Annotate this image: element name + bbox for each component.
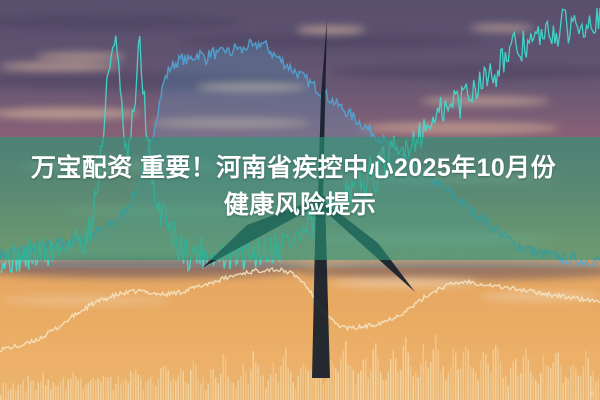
- watermark-label: 6: [590, 391, 594, 398]
- title-line-1: 万宝配资 重要！河南省疾控中心2025年10月份: [31, 150, 556, 187]
- article-banner-image: 万宝配资 重要！河南省疾控中心2025年10月份 健康风险提示 6: [0, 0, 600, 400]
- title-line-2: 健康风险提示: [224, 187, 376, 224]
- banner-title: 万宝配资 重要！河南省疾控中心2025年10月份 健康风险提示: [0, 150, 600, 250]
